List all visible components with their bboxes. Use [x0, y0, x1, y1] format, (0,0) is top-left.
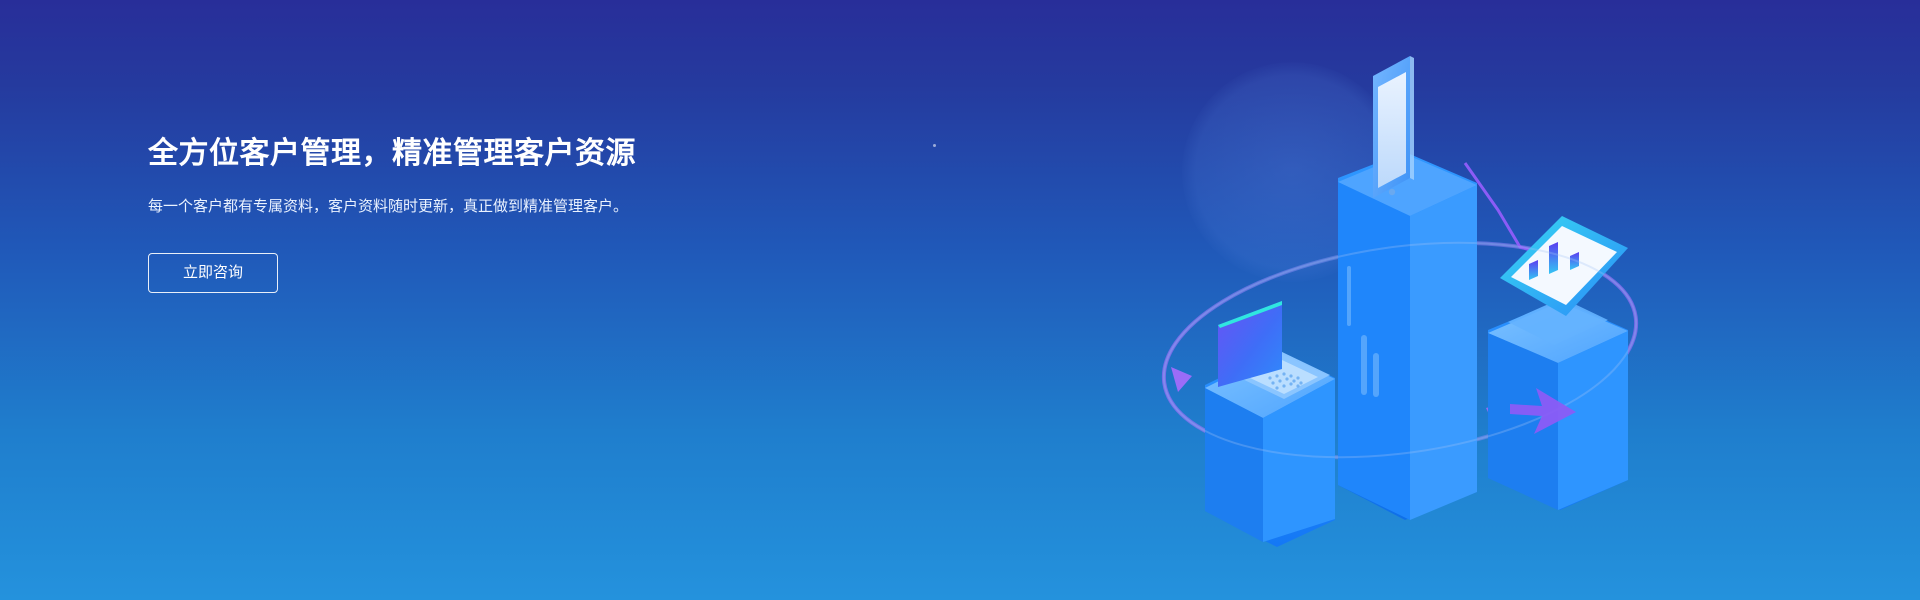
tablet-home-button-icon — [1389, 189, 1395, 195]
orbit-arrow-left-icon — [1171, 367, 1192, 392]
page-title: 全方位客户管理，精准管理客户资源 — [148, 134, 788, 174]
sparkle-dot-icon — [933, 144, 936, 147]
center-pillar-group — [1338, 56, 1477, 520]
hero-subtitle: 每一个客户都有专属资料，客户资料随时更新，真正做到精准管理客户。 — [148, 195, 628, 218]
isometric-scene-svg — [1130, 30, 1670, 570]
hero-copy-block: 全方位客户管理，精准管理客户资源 每一个客户都有专属资料，客户资料随时更新，真正… — [148, 134, 788, 293]
hero-illustration — [1130, 30, 1670, 570]
left-pillar-group — [1205, 301, 1335, 547]
consult-now-button[interactable]: 立即咨询 — [148, 253, 278, 293]
chart-bar-2 — [1549, 242, 1558, 274]
tablet-device — [1373, 56, 1414, 198]
right-pillar-group — [1488, 216, 1628, 510]
hero-banner: 全方位客户管理，精准管理客户资源 每一个客户都有专属资料，客户资料随时更新，真正… — [0, 0, 1920, 600]
